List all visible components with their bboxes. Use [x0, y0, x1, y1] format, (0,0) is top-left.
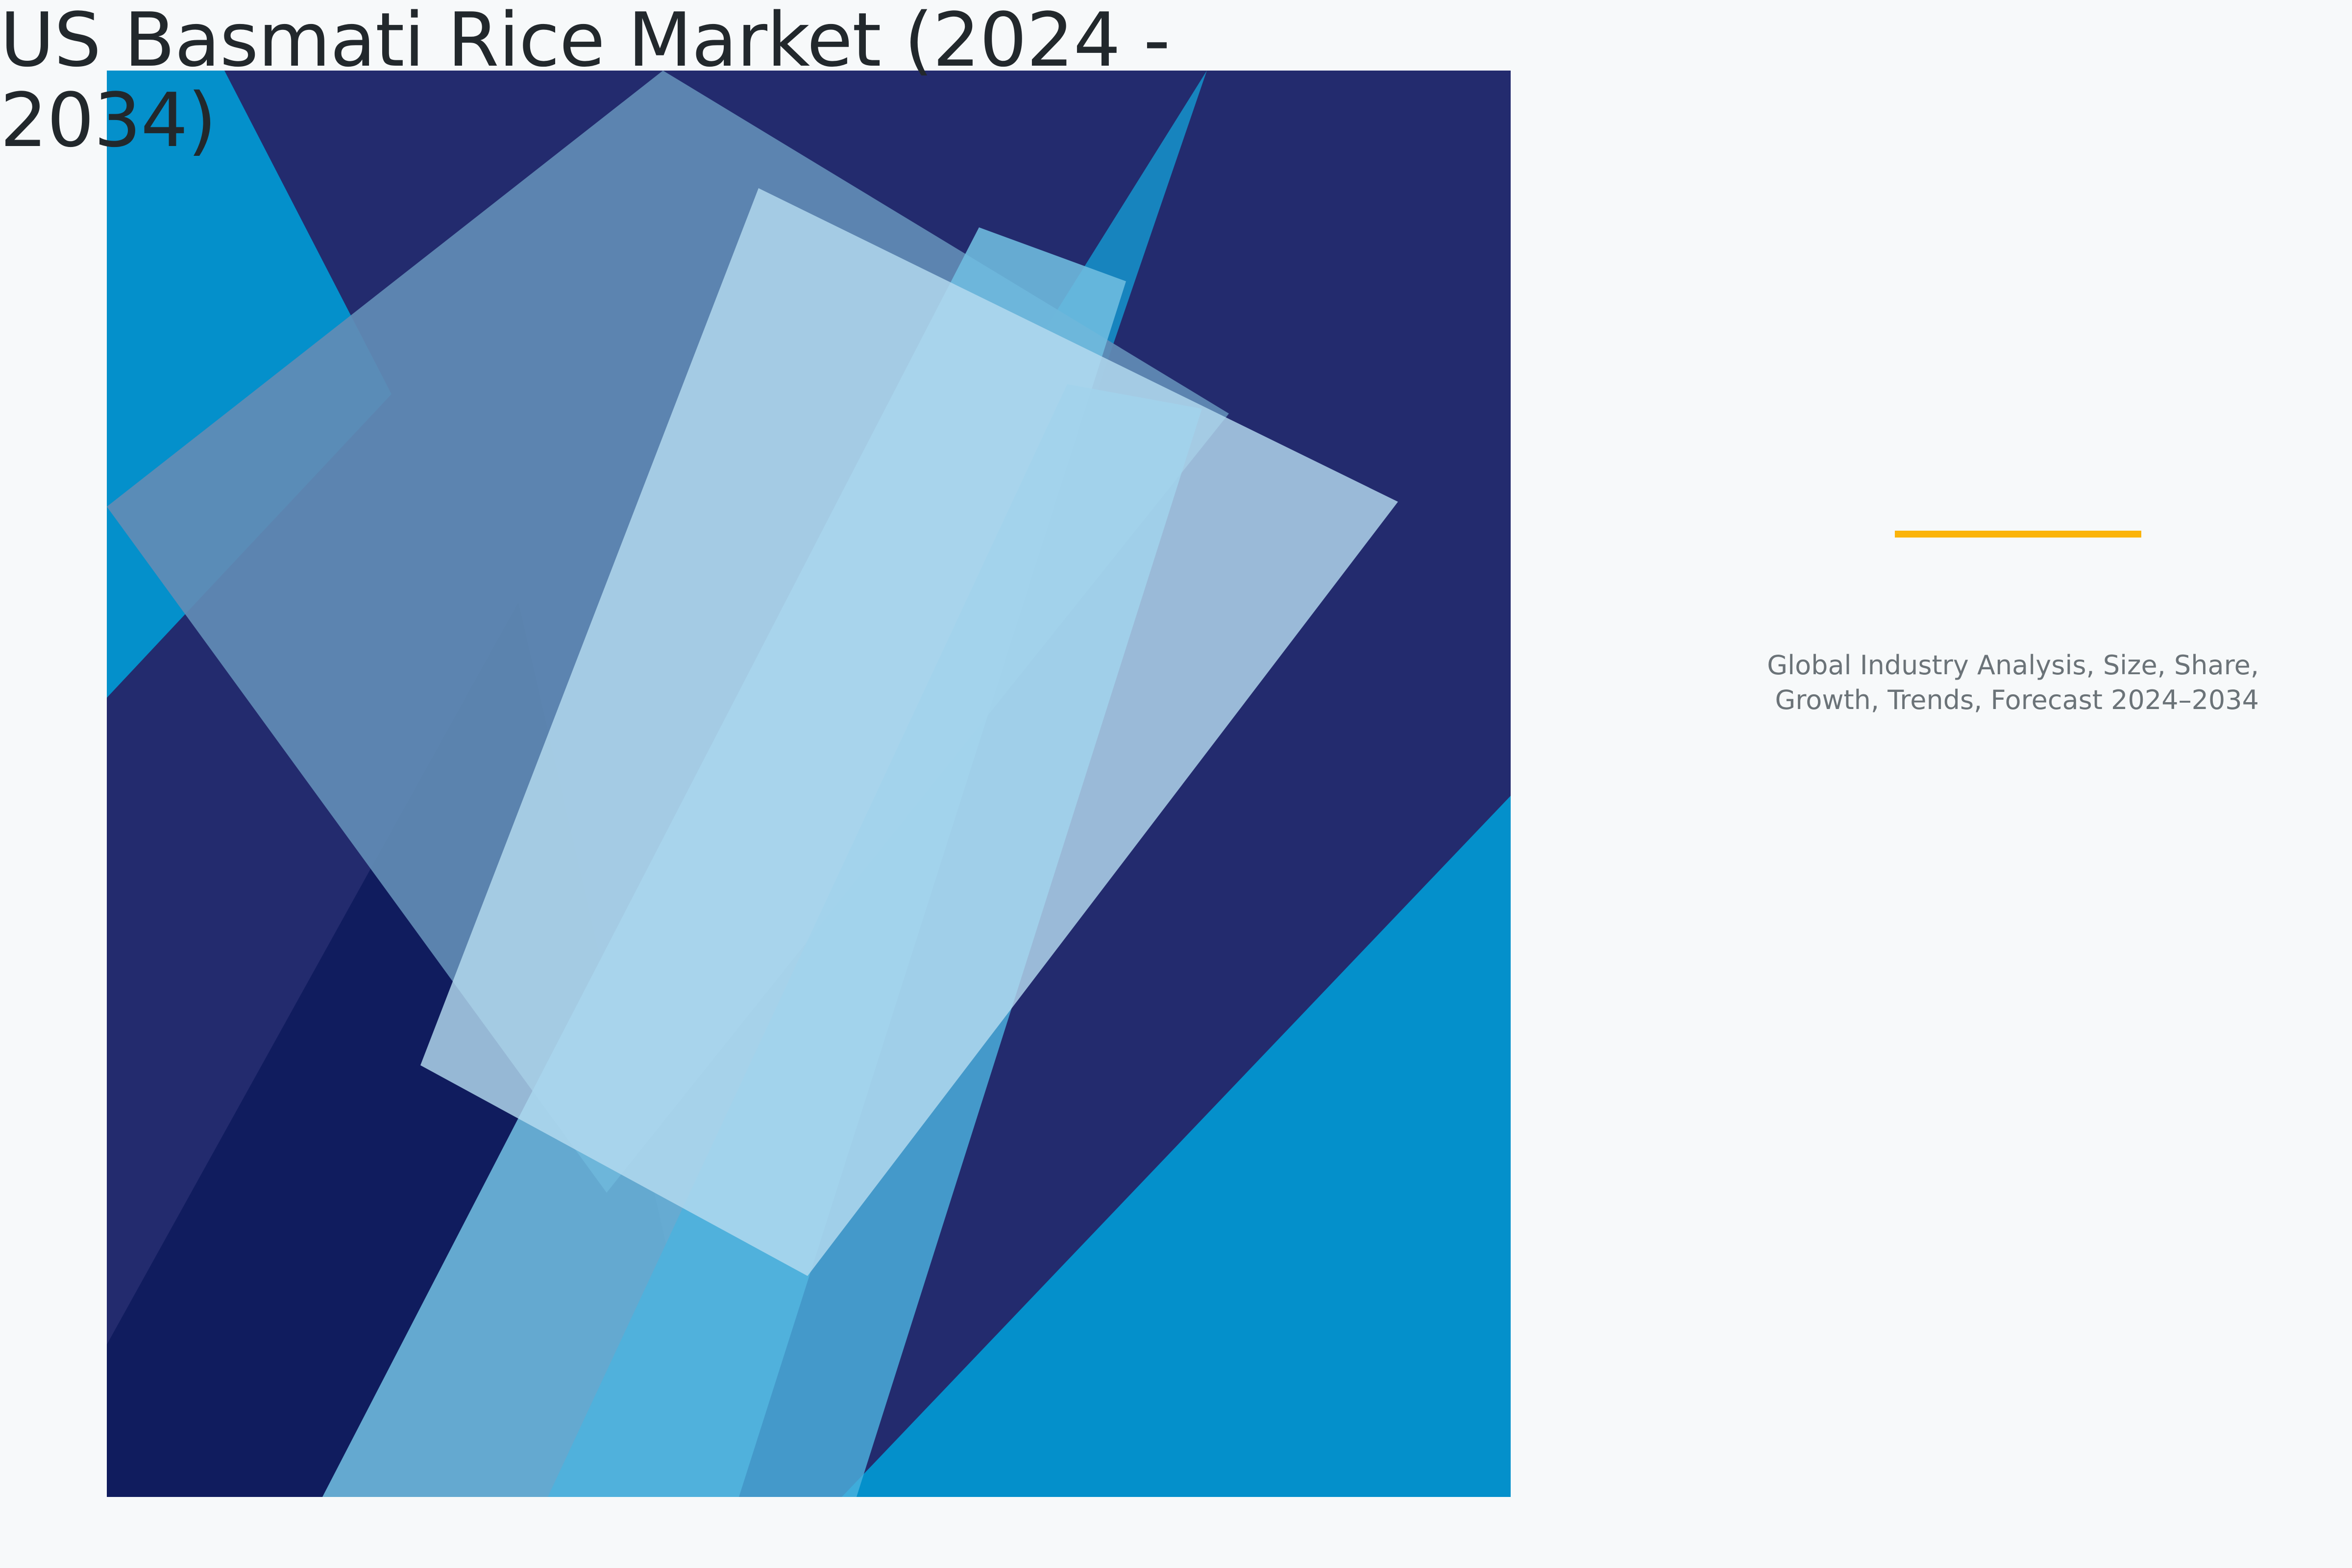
page-subtitle-line-2: Growth, Trends, Forecast 2024–2034 [1775, 685, 2259, 715]
abstract-geometric-cover-graphic [107, 71, 1511, 1497]
page-title: US Basmati Rice Market (2024 - 2034) [0, 0, 2352, 161]
report-cover: US Basmati Rice Market (2024 - 2034) Glo… [0, 0, 2352, 1568]
title-underline [1895, 531, 2141, 538]
page-title-line-1: US Basmati Rice Market (2024 - [0, 0, 1170, 83]
page-subtitle-line-1: Global Industry Analysis, Size, Share, [1767, 650, 2259, 681]
page-subtitle: Global Industry Analysis, Size, Share, G… [1039, 648, 2259, 718]
artwork-svg [107, 71, 1511, 1497]
page-title-line-2: 2034) [0, 77, 216, 164]
